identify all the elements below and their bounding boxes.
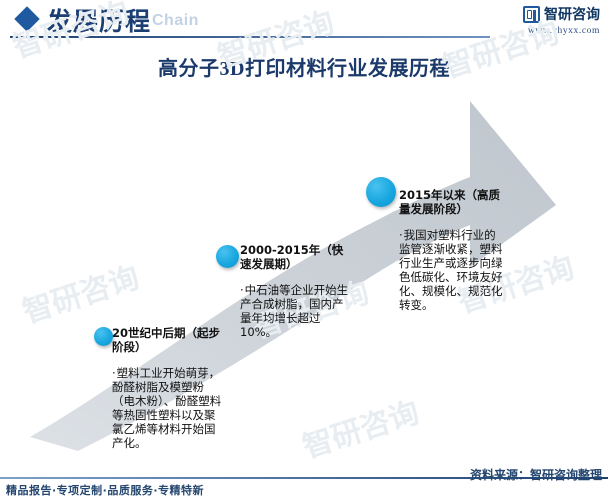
footer-source: 资料来源：智研咨询整理 (470, 466, 602, 483)
milestone-body: 我国对塑料行业的监管逐渐收紧，塑料行业生产或逐步向绿色低碳化、环境友好化、规模化… (399, 228, 505, 312)
milestone-heading: 20世纪中后期（起步阶段） (112, 326, 224, 354)
timeline-diagram: 智研咨询 智研咨询 智研咨询 智研咨询 智研咨询 智研咨询 智研咨询 (0, 85, 608, 465)
header-subtitle: Chain (152, 12, 199, 30)
diamond-icon (14, 6, 39, 31)
footer-tagline: 精品报告·专项定制·品质服务·专精特新 (6, 482, 204, 498)
growth-arrow-icon (0, 85, 608, 465)
header-title: 发展历程 (47, 2, 151, 38)
milestone-body: 中石油等企业开始生产合成树脂，国内产量年均增长超过10%。 (240, 283, 352, 339)
brand-url: www.chyxx.com (523, 26, 600, 36)
milestone-dot[interactable] (94, 327, 113, 346)
milestone-heading: 2015年以来（高质量发展阶段） (399, 188, 505, 216)
milestone-dot[interactable] (216, 245, 239, 268)
brand-mark-icon (523, 6, 540, 23)
page-header: 发展历程 Chain 智研咨询 www.chyxx.com (0, 0, 608, 40)
milestone-heading: 2000-2015年（快速发展期） (240, 243, 352, 271)
header-divider (10, 36, 490, 38)
brand-name: 智研咨询 (544, 4, 600, 24)
page-title: 高分子3D打印材料行业发展历程 (0, 52, 608, 81)
milestone-dot[interactable] (366, 177, 396, 207)
milestone-body: 塑料工业开始萌芽，酚醛树脂及模塑粉（电木粉）、酚醛塑料等热固性塑料以及聚氯乙烯等… (112, 366, 224, 450)
brand-logo: 智研咨询 www.chyxx.com (523, 4, 600, 36)
